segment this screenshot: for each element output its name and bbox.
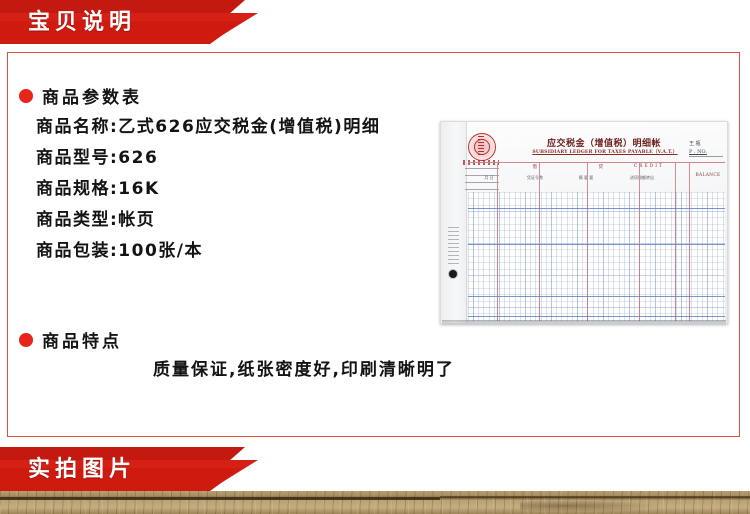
feature-description: 质量保证,纸张密度好,印刷清晰明了 (153, 355, 455, 380)
parameter-list: 商品名称:乙式626应交税金(增值税)明细 商品型号:626 商品规格:16K … (36, 112, 456, 267)
ledger-side-code (448, 227, 459, 267)
ledger-title-en: SUBSIDIARY LEDGER FOR TAXES PAYABLE（V.A.… (519, 149, 691, 155)
parameter-row: 商品名称:乙式626应交税金(增值税)明细 (36, 112, 456, 143)
parameter-row: 商品规格:16K (36, 174, 456, 205)
ledger-col-cap: 借 (520, 164, 550, 170)
ledger-subcol: 月 日 (470, 175, 508, 180)
ledger-grid-redline (587, 192, 588, 321)
ledger-grid-blueline (468, 316, 725, 317)
ledger-subcol: 进项税额转出 (614, 175, 670, 180)
wood-surface-photo (0, 491, 750, 514)
product-description-page: 宝贝说明 商品参数表 商品名称:乙式626应交税金(增值税)明细 商品型号:62… (0, 0, 750, 514)
ledger-subcol: 凭证号数 (512, 175, 558, 180)
parameter-row: 商品类型:帐页 (36, 205, 456, 236)
ledger-page-no-label: 王 瓶 (689, 141, 701, 147)
punch-hole-icon (449, 270, 457, 278)
parameter-row: 商品型号:626 (36, 143, 456, 174)
wood-plank-seam (440, 496, 750, 498)
ledger-emblem-icon (468, 133, 496, 161)
bullet-icon (19, 89, 33, 103)
banner-top-title: 宝贝说明 (28, 6, 136, 38)
banner-real-photos: 实拍图片 (0, 447, 340, 491)
ledger-grid-redline (689, 192, 690, 321)
parameter-row: 商品包装:100张/本 (36, 236, 456, 267)
wood-knot-detail (520, 500, 670, 512)
wood-plank-seam (0, 497, 440, 500)
ledger-binding-strip (441, 122, 467, 323)
ledger-page-no-value: P . NO. (689, 148, 723, 157)
ledger-grid-redline (497, 192, 498, 321)
ledger-grid-blueline (468, 244, 725, 245)
ledger-grid (468, 192, 725, 321)
ledger-sheet: 应交税金（增值税）明细帐 SUBSIDIARY LEDGER FOR TAXES… (440, 121, 728, 324)
banner-bottom-title: 实拍图片 (28, 453, 136, 485)
ledger-subcol: 摘 要 要 (564, 175, 608, 180)
bullet-icon (19, 333, 33, 347)
ledger-col-cap: 贷 (586, 164, 616, 170)
section-heading-parameters-label: 商品参数表 (42, 83, 142, 108)
section-heading-features-label: 商品特点 (42, 327, 122, 352)
ledger-grid-redline (639, 192, 640, 321)
ledger-col-cap: C R E D I T (618, 164, 678, 169)
ledger-grid-blueline (468, 208, 725, 209)
product-photo: 应交税金（增值税）明细帐 SUBSIDIARY LEDGER FOR TAXES… (432, 118, 734, 330)
ledger-title-cn: 应交税金（增值税）明细帐 (529, 136, 679, 149)
section-heading-parameters: 商品参数表 (19, 83, 142, 108)
banner-product-description: 宝贝说明 (0, 0, 340, 44)
ledger-grid-redline (539, 192, 540, 321)
ledger-grid-redline (675, 192, 676, 321)
ledger-drop-shadow (442, 320, 726, 325)
ledger-column-header: 借 贷 C R E D I T 月 日 凭证号数 摘 要 要 进项税额转出 BA… (468, 162, 725, 194)
ledger-grid-blueline (468, 296, 725, 297)
ledger-page-no: 王 瓶 P . NO. (689, 140, 723, 157)
section-heading-features: 商品特点 (19, 327, 122, 352)
ledger-balance-label: BALANCE (690, 173, 726, 178)
